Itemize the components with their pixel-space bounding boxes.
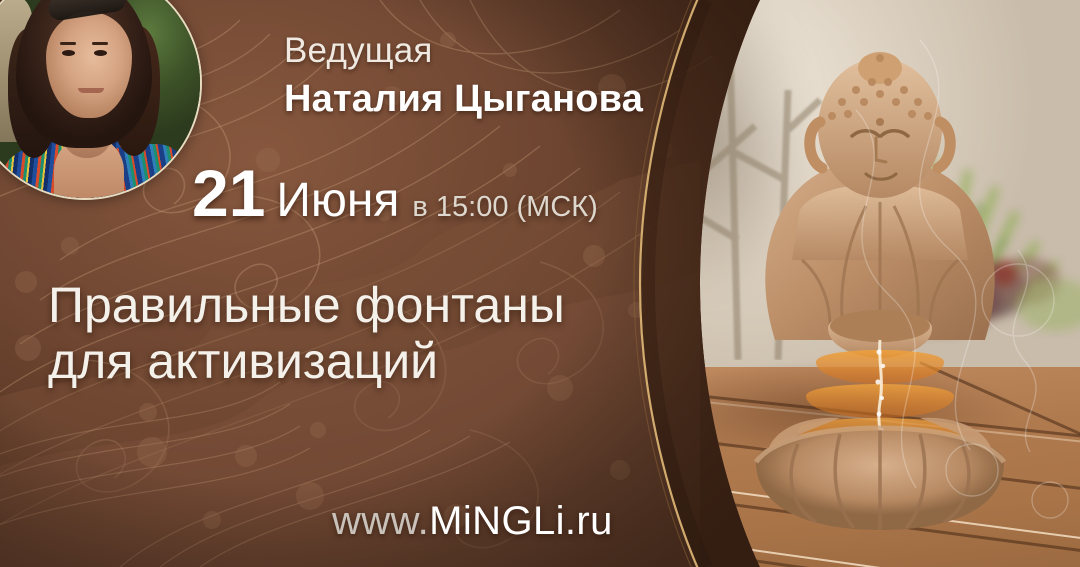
avatar-eye-right xyxy=(94,50,107,56)
presenter-role-label: Ведущая xyxy=(284,31,433,71)
schedule-day: 21 xyxy=(192,160,265,226)
avatar-brow-right xyxy=(92,42,108,45)
avatar-mouth xyxy=(78,88,104,93)
url-domain: MiNGLi.ru xyxy=(429,499,613,543)
webinar-banner: Ведущая Наталия Цыганова 21 Июня в 15:00… xyxy=(0,0,1080,567)
schedule-time: в 15:00 (МСК) xyxy=(412,193,597,222)
avatar xyxy=(0,0,200,198)
presenter-name: Наталия Цыганова xyxy=(284,78,643,121)
avatar-brow-left xyxy=(60,42,76,45)
decorative-swirl-overlay xyxy=(620,0,1080,567)
buddha-fountain-photo xyxy=(620,0,1080,567)
url-prefix: www. xyxy=(332,499,429,543)
schedule-month: Июня xyxy=(276,177,399,225)
page-title: Правильные фонтаны для активизаций xyxy=(48,277,565,389)
avatar-eye-left xyxy=(62,50,75,56)
website-url: www.MiNGLi.ru xyxy=(332,499,613,544)
schedule-line: 21 Июня в 15:00 (МСК) xyxy=(192,160,598,226)
